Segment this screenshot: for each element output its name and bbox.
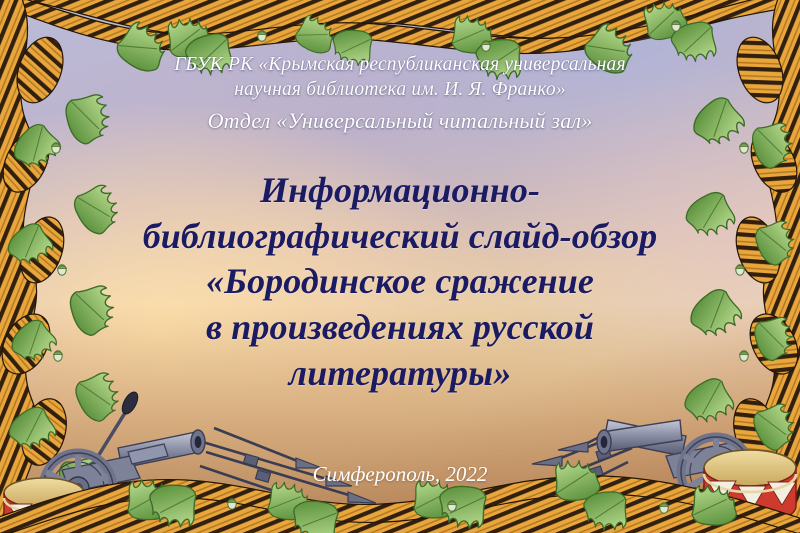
title-line-1: Информационно- xyxy=(0,168,800,214)
org-line-2: научная библиотека им. И. Я. Франко» xyxy=(0,77,800,102)
slide-title: Информационно- библиографический слайд-о… xyxy=(0,168,800,397)
presentation-title-slide: ГБУК РК «Крымская республиканская универ… xyxy=(0,0,800,533)
place-and-year: Симферополь, 2022 xyxy=(0,462,800,487)
title-line-4: в произведениях русской xyxy=(0,305,800,351)
organization-header: ГБУК РК «Крымская республиканская универ… xyxy=(0,52,800,135)
org-department: Отдел «Универсальный читальный зал» xyxy=(0,107,800,136)
title-line-5: литературы» xyxy=(0,351,800,397)
slide-content: ГБУК РК «Крымская республиканская универ… xyxy=(0,0,800,533)
title-line-2: библиографический слайд-обзор xyxy=(0,214,800,260)
title-line-3: «Бородинское сражение xyxy=(0,259,800,305)
org-line-1: ГБУК РК «Крымская республиканская универ… xyxy=(0,52,800,77)
